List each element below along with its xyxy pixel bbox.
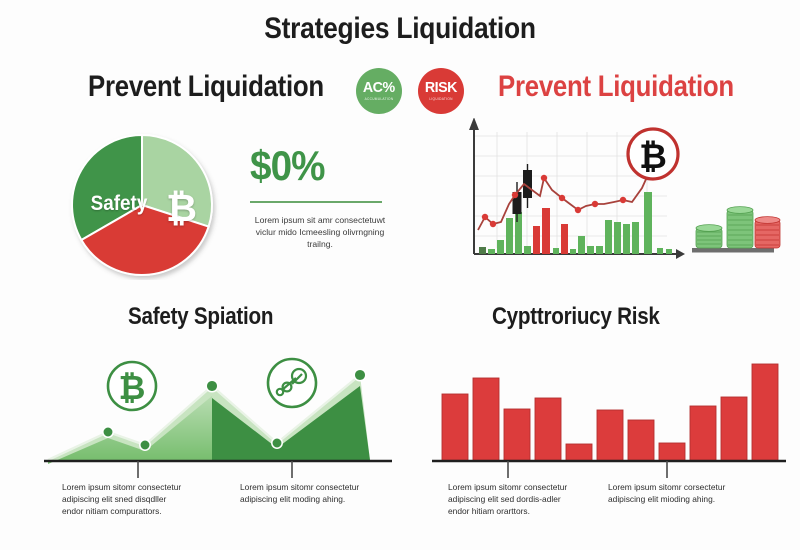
stat-description: Lorem ipsum sit amr consectetuwt viclur … <box>250 214 390 251</box>
candlestick-bars <box>479 192 672 254</box>
infographic-canvas: Strategies Liquidation Prevent Liquidati… <box>0 0 800 550</box>
caption-risk-2: Lorem ipsum sitomr corsectetur adipiscin… <box>608 482 733 506</box>
bar-chart-svg <box>428 348 788 478</box>
pie-slices <box>72 135 212 275</box>
coin-stack-green-short <box>696 225 722 248</box>
risk-bars <box>442 364 778 461</box>
stat-value: $0% <box>250 145 397 187</box>
svg-text:₿: ₿ <box>639 137 667 177</box>
safety-area-chart: ₿ <box>40 348 400 478</box>
stat-divider <box>250 201 382 203</box>
bitcoin-circle-icon: ₿ <box>628 129 678 179</box>
caption-safety-1: Lorem ipsum sitomr consectetur adipiscin… <box>62 482 187 518</box>
market-candlestick-chart: ₿ <box>452 118 782 283</box>
section-title-safety-spiation: Safety Spiation <box>128 303 273 331</box>
risk-badge-label: RISK <box>425 80 457 95</box>
section-title-prevent-liquidation-right: Prevent Liquidation <box>498 70 734 104</box>
crypto-risk-bar-chart <box>428 348 788 478</box>
caption-risk-1: Lorem ipsum sitomr consectetur adipiscin… <box>448 482 573 518</box>
caption-safety-2: Lorem ipsum sitomr consectetur adipiscin… <box>240 482 365 506</box>
svg-text:₿: ₿ <box>119 368 146 407</box>
bitcoin-circle-icon: ₿ <box>108 362 156 410</box>
ac-badge-sublabel: ACCUMULATION <box>365 98 394 101</box>
ac-percent-badge: AC% ACCUMULATION <box>356 68 402 114</box>
section-title-prevent-liquidation-left: Prevent Liquidation <box>88 70 324 104</box>
risk-badge-sublabel: LIQUIDATION <box>429 98 452 101</box>
ac-badge-label: AC% <box>363 80 395 95</box>
network-node-circle-icon <box>268 359 316 407</box>
pie-chart-svg <box>62 130 238 280</box>
section-title-cryptocurrency-risk: Cypttroriucy Risk <box>492 303 660 331</box>
risk-badge: RISK LIQUIDATION <box>418 68 464 114</box>
candlestick-chart-svg: ₿ <box>452 118 782 283</box>
x-axis-arrow <box>676 249 685 259</box>
coin-platform <box>692 248 774 253</box>
liquidation-pie-chart: Safety ₿ <box>62 130 238 280</box>
liquidation-stat-block: $0% Lorem ipsum sit amr consectetuwt vic… <box>250 145 410 251</box>
coin-stack-green-tall <box>727 207 753 248</box>
area-chart-svg: ₿ <box>40 348 400 478</box>
coin-stack-red <box>755 217 780 248</box>
page-title: Strategies Liquidation <box>48 12 752 46</box>
